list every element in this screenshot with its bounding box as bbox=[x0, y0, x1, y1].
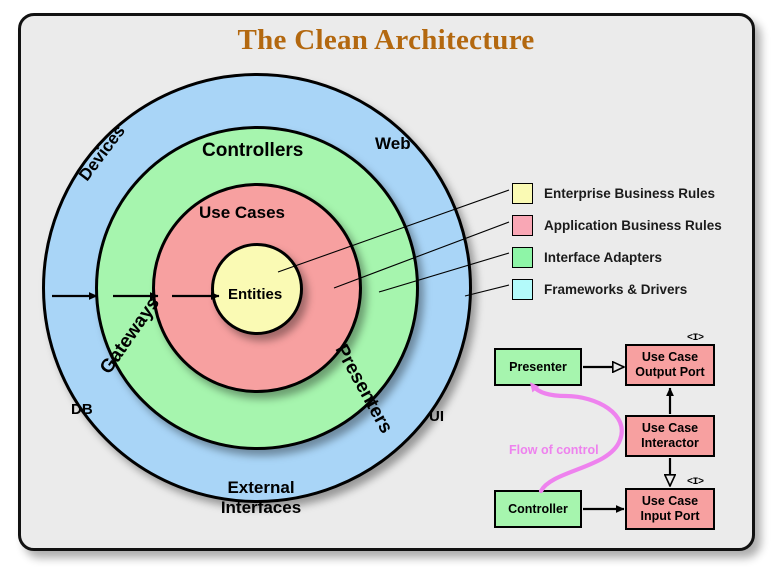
label-controllers: Controllers bbox=[202, 140, 303, 162]
interface-stereotype-output-port: <I> bbox=[687, 333, 704, 344]
box-use-case-output-port[interactable]: Use Case Output Port bbox=[625, 344, 715, 386]
label-db: DB bbox=[71, 401, 93, 418]
legend-item-application-business-rules: Application Business Rules bbox=[512, 212, 722, 239]
label-entities: Entities bbox=[228, 286, 282, 303]
legend-label-enterprise-business-rules: Enterprise Business Rules bbox=[544, 186, 715, 201]
label-use-cases: Use Cases bbox=[199, 203, 285, 223]
legend-swatch-yellow bbox=[512, 183, 533, 204]
legend-label-application-business-rules: Application Business Rules bbox=[544, 218, 722, 233]
label-web: Web bbox=[375, 134, 411, 154]
page-title: The Clean Architecture bbox=[0, 24, 772, 57]
box-presenter[interactable]: Presenter bbox=[494, 348, 582, 386]
box-use-case-interactor[interactable]: Use Case Interactor bbox=[625, 415, 715, 457]
legend-item-interface-adapters: Interface Adapters bbox=[512, 244, 722, 271]
legend-item-frameworks-and-drivers: Frameworks & Drivers bbox=[512, 276, 722, 303]
box-controller[interactable]: Controller bbox=[494, 490, 582, 528]
legend-swatch-cyan bbox=[512, 279, 533, 300]
legend-swatch-green bbox=[512, 247, 533, 268]
label-ui: UI bbox=[429, 408, 444, 425]
legend-label-frameworks-and-drivers: Frameworks & Drivers bbox=[544, 282, 687, 297]
legend-item-enterprise-business-rules: Enterprise Business Rules bbox=[512, 180, 722, 207]
flow-of-control-label: Flow of control bbox=[509, 443, 599, 457]
label-external-interfaces: External Interfaces bbox=[213, 478, 309, 517]
diagram-canvas: The Clean Architecture Entities Use Case… bbox=[0, 0, 772, 567]
interface-stereotype-input-port: <I> bbox=[687, 477, 704, 488]
legend-label-interface-adapters: Interface Adapters bbox=[544, 250, 662, 265]
legend-swatch-pink bbox=[512, 215, 533, 236]
box-use-case-input-port[interactable]: Use Case Input Port bbox=[625, 488, 715, 530]
legend: Enterprise Business Rules Application Bu… bbox=[512, 180, 722, 308]
